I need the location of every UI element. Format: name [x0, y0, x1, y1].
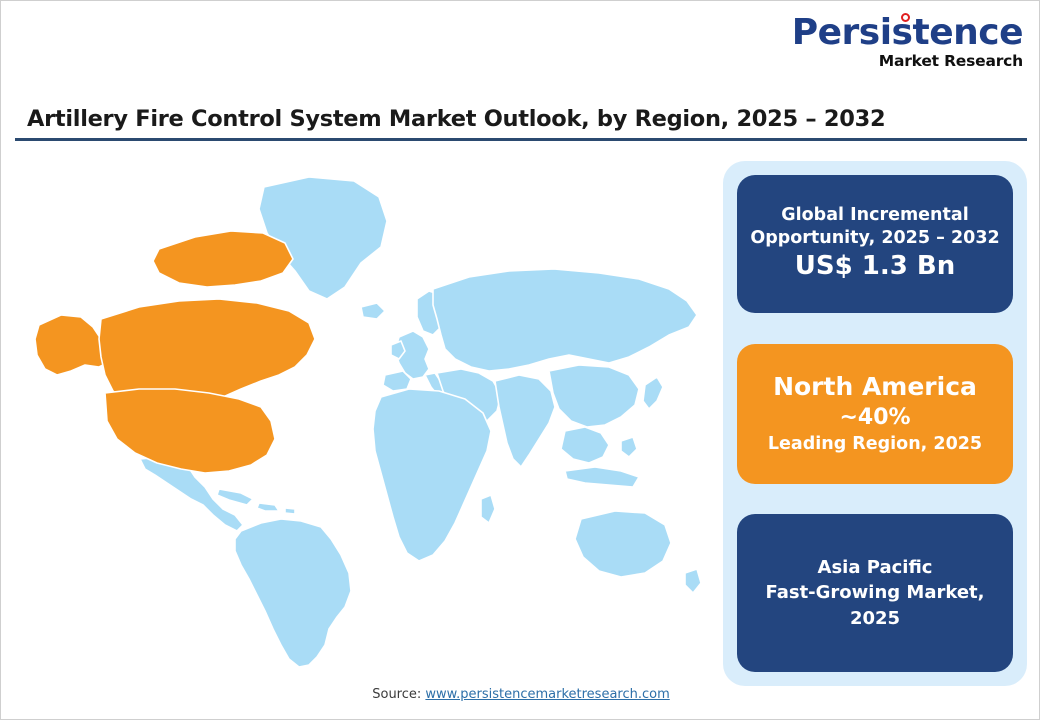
card-leading-region-caption: Leading Region, 2025	[768, 433, 982, 456]
map-region-philippines	[621, 437, 637, 457]
card-leading-region: North America ~40% Leading Region, 2025	[737, 344, 1013, 484]
map-region-south-asia	[495, 375, 555, 467]
map-region-southeast-asia	[561, 427, 609, 463]
map-region-south-america	[235, 519, 351, 667]
map-region-greenland	[259, 177, 387, 299]
map-region-russia-asia	[433, 269, 697, 371]
infographic-page: Persistence Market Research Artillery Fi…	[0, 0, 1040, 720]
red-dot-icon	[901, 13, 910, 22]
map-region-puerto-rico	[285, 508, 295, 514]
world-map	[9, 159, 715, 679]
card-incremental-line1: Global Incremental	[781, 204, 968, 227]
card-fastgrowing-line2: Fast-Growing Market,	[765, 580, 984, 606]
world-map-svg	[9, 159, 715, 679]
map-region-madagascar	[481, 495, 495, 523]
logo-subtitle: Market Research	[753, 54, 1023, 70]
source-label: Source:	[372, 687, 421, 702]
map-region-australia	[575, 511, 671, 577]
page-title: Artillery Fire Control System Market Out…	[27, 106, 1027, 132]
card-fast-growing-market: Asia Pacific Fast-Growing Market, 2025	[737, 514, 1013, 672]
map-region-east-asia	[549, 365, 639, 427]
card-leading-region-share: ~40%	[839, 404, 910, 433]
logo-wordmark: Persistence	[753, 15, 1023, 51]
card-fastgrowing-line3: 2025	[850, 606, 900, 632]
card-incremental-line2: Opportunity, 2025 – 2032	[750, 227, 999, 250]
title-block: Artillery Fire Control System Market Out…	[15, 106, 1027, 141]
map-region-united-states	[105, 389, 275, 473]
map-region-japan	[643, 377, 663, 409]
map-region-africa	[373, 389, 491, 561]
map-region-cuba	[217, 489, 253, 505]
map-highlight-north-america	[35, 231, 315, 473]
map-region-hispaniola	[257, 503, 279, 511]
card-global-incremental-opportunity: Global Incremental Opportunity, 2025 – 2…	[737, 175, 1013, 313]
map-region-new-zealand	[685, 569, 701, 593]
title-divider	[15, 138, 1027, 141]
map-region-iceland	[361, 303, 385, 319]
map-region-indonesia	[565, 467, 639, 487]
source-link[interactable]: www.persistencemarketresearch.com	[425, 687, 669, 702]
company-logo: Persistence Market Research	[753, 15, 1023, 70]
card-fastgrowing-region-name: Asia Pacific	[818, 555, 933, 581]
source-footer: Source: www.persistencemarketresearch.co…	[1, 687, 1040, 702]
map-region-iberia	[383, 371, 411, 391]
highlights-panel: Global Incremental Opportunity, 2025 – 2…	[723, 161, 1027, 686]
card-incremental-value: US$ 1.3 Bn	[795, 250, 955, 284]
map-region-canadian-arctic	[153, 231, 293, 287]
card-leading-region-name: North America	[773, 371, 977, 404]
